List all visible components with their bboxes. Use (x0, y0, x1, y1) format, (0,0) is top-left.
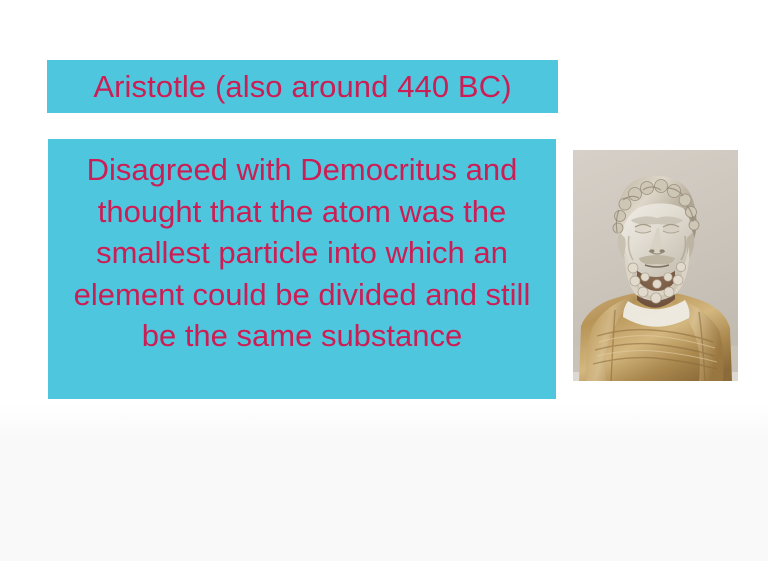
slide: Aristotle (also around 440 BC) Disagreed… (0, 0, 768, 561)
aristotle-bust-image (573, 150, 738, 381)
body-paragraph: Disagreed with Democritus and thought th… (56, 149, 548, 357)
page-title: Aristotle (also around 440 BC) (93, 70, 511, 104)
title-banner: Aristotle (also around 440 BC) (47, 60, 558, 113)
body-banner: Disagreed with Democritus and thought th… (48, 139, 556, 399)
